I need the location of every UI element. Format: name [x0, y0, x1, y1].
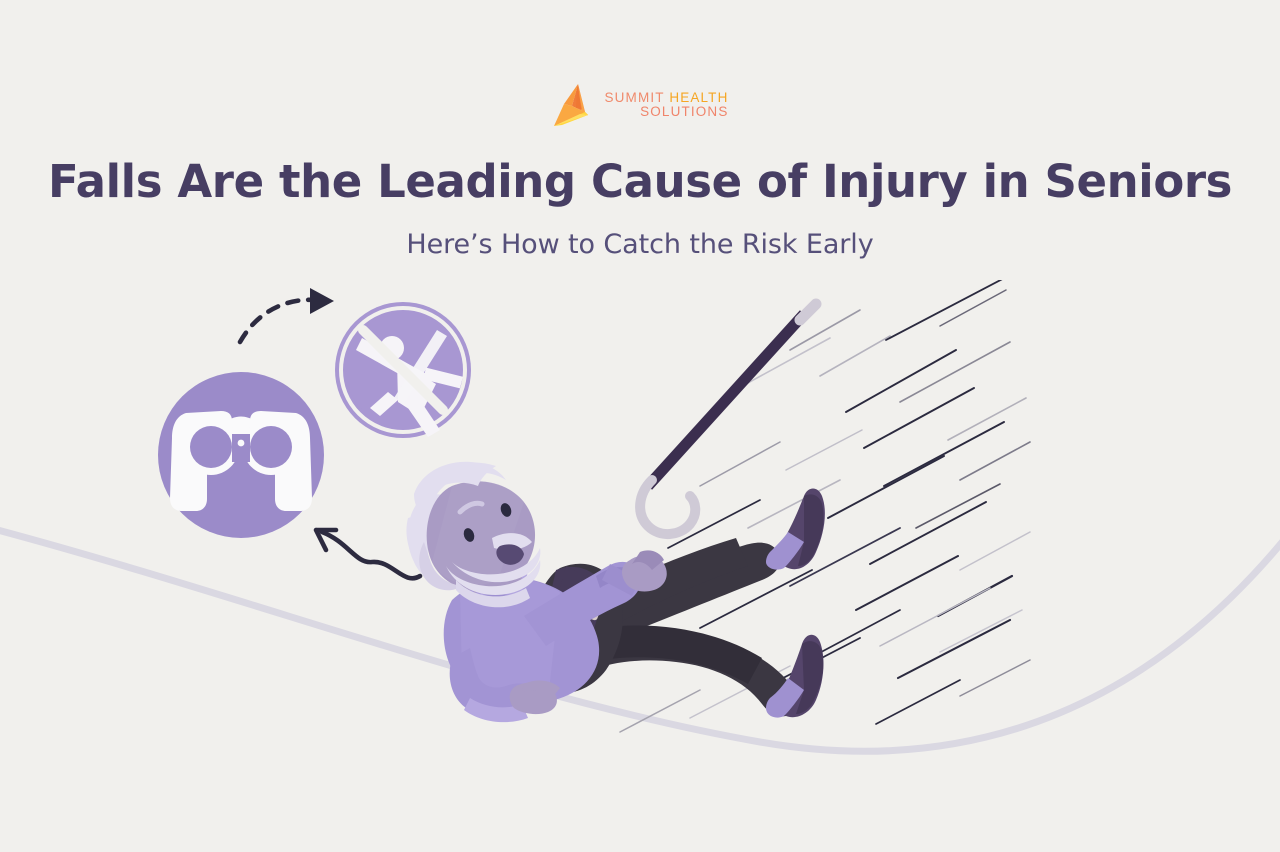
binoculars-badge[interactable] — [158, 372, 324, 538]
no-fall-badge[interactable] — [335, 302, 471, 438]
poster-canvas: SUMMIT HEALTH SOLUTIONS Falls Are the Le… — [0, 0, 1280, 852]
summit-peak-logo-mark — [552, 82, 596, 128]
dashed-curved-arrow-icon — [240, 288, 334, 342]
squiggly-arrow-icon — [316, 530, 420, 578]
logo-line-1: SUMMIT HEALTH — [605, 91, 729, 105]
shoe-upper — [766, 489, 825, 570]
logo-word-health: HEALTH — [669, 90, 728, 105]
hero-illustration — [0, 280, 1280, 852]
cane-icon — [640, 304, 816, 534]
page-title: Falls Are the Leading Cause of Injury in… — [0, 155, 1280, 208]
head — [406, 462, 540, 608]
page-subtitle: Here’s How to Catch the Risk Early — [0, 229, 1280, 260]
logo-word-summit: SUMMIT — [605, 90, 665, 105]
falling-elderly-person-illustration — [406, 462, 824, 722]
brand-logo[interactable]: SUMMIT HEALTH SOLUTIONS — [0, 82, 1280, 128]
logo-line-2: SOLUTIONS — [640, 105, 728, 119]
logo-wordmark: SUMMIT HEALTH SOLUTIONS — [605, 91, 729, 120]
